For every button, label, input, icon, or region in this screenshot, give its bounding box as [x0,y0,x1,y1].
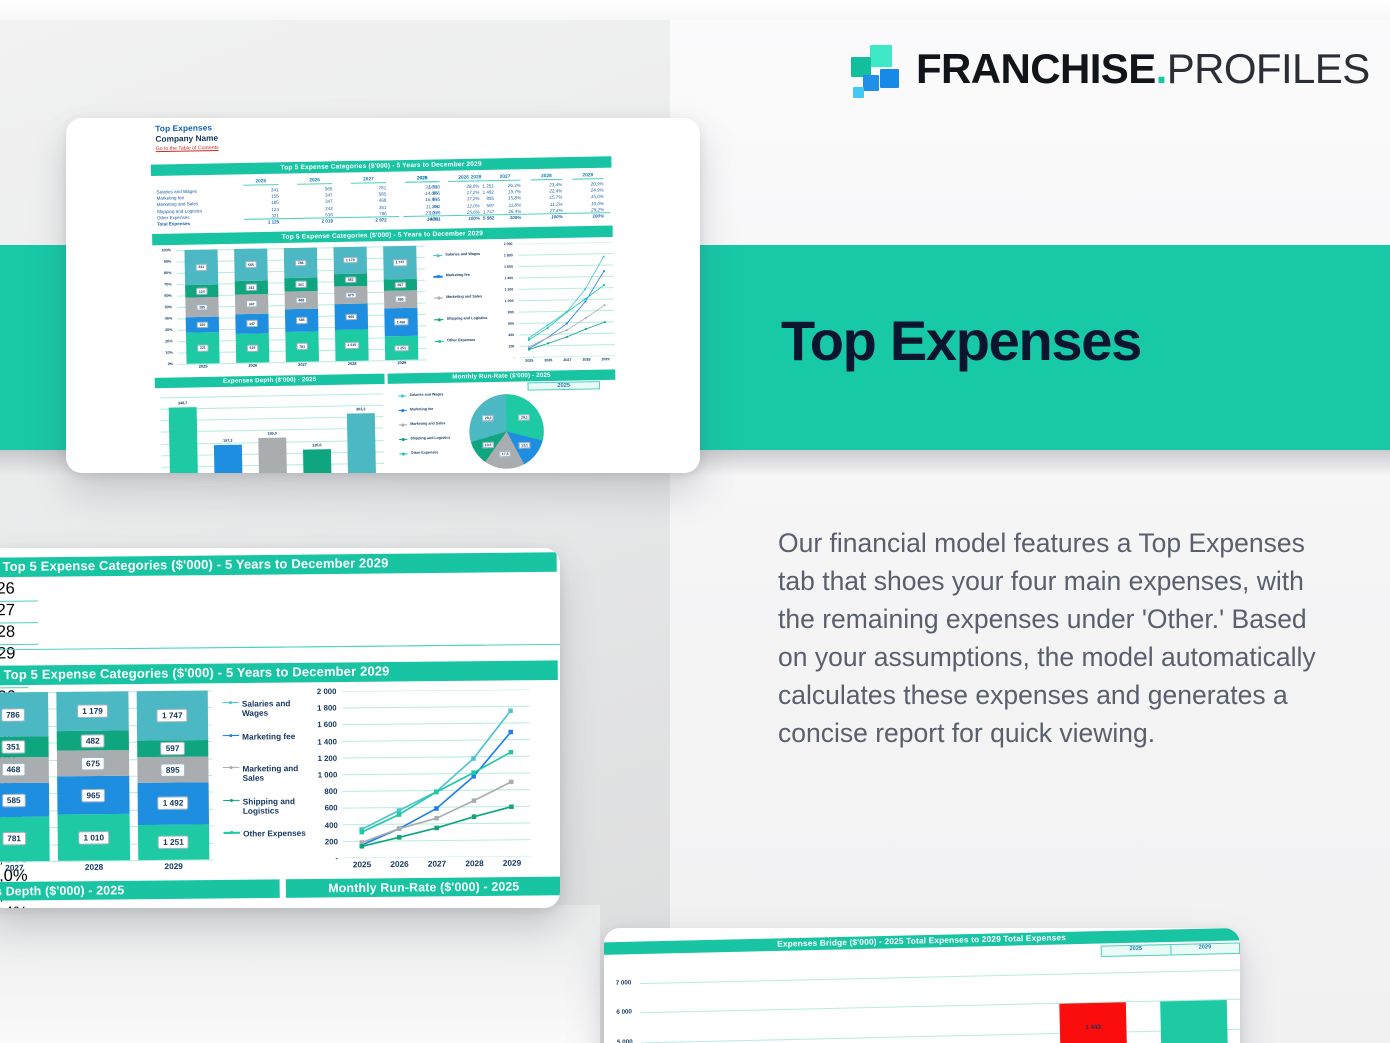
table-cell-percent: 22,4% [531,188,562,194]
pie-legend-label: Shipping and Logistics [410,436,450,441]
table-cell-percent: 10,0% [573,200,604,206]
bar-segment-label: 1 010 [345,342,359,349]
table-cell-percent: 100% [573,213,604,219]
legend-marker [223,732,240,738]
legend-marker [434,317,443,323]
run-rate-y-axis: -2004006008001 0001 2001 4001 6001 8002 … [493,244,518,358]
bar-segment-label: 1 179 [343,257,357,264]
table-cell-value: 341 [243,187,278,193]
bar-segment-label: 468 [1,763,25,777]
pie-legend-label: Marketing fee [410,407,433,412]
bar-segment-label: 1 251 [394,344,408,351]
y-tick-label: 1 800 [317,703,337,712]
pie-slices [469,393,545,469]
bar-segment-label: 895 [161,763,185,777]
bar-segment-s-oth: 516 [236,333,269,363]
bar-segment-label: 155 [197,321,208,328]
bar-segment-s-mks: 185 [186,297,219,317]
y-tick-label: 1 400 [317,737,337,746]
legend-item: Marketing fee [433,273,470,280]
bar-segment-s-oth: 1 251 [385,336,418,360]
legend-marker [223,830,240,836]
table-cell-percent: 100% [490,215,521,221]
run-rate-year-selector[interactable]: 2025 [527,381,600,391]
bar-segment-s-mkf: 597 [384,279,416,291]
table-cell-value: 347 [297,199,332,205]
table-cell-percent: 31,0% [407,184,438,190]
bar-segment-s-shp: 585 [0,783,50,817]
depth-bar-value: 348,7 [178,401,187,405]
x-tick-label: 2029 [377,360,427,365]
bar-segment-label: 341 [196,264,207,271]
bar-segment-label: 965 [346,313,357,320]
waterfall-bar [1160,1000,1228,1043]
y-tick-label: 600 [508,322,514,326]
table-cell-percent: 11,2% [531,201,562,207]
pie-legend-marker [398,393,406,398]
bl-line-y-axis: -2004006008001 0001 2001 4001 6001 8002 … [305,691,342,858]
legend-item: Other Expenses [435,338,476,345]
x-tick-label: 2025 [520,358,539,362]
bar-segment-label: 347 [246,320,257,327]
bl-rule-right [242,644,560,648]
bl-year-header: 2028 [0,623,38,645]
table-cell-value: 781 [351,185,386,191]
stacked-bar-column: 516347347243565 [235,248,269,362]
x-tick-label: 2029 [134,861,214,871]
bar-segment-s-mks: 347 [235,294,268,314]
legend-label: Other Expenses [243,829,306,839]
stacked-bar-legend: Salaries and WagesMarketing feeMarketing… [433,246,499,359]
br-y-tick-label: 7 000 [616,980,632,987]
bar-segment-label: 565 [245,261,256,268]
background-top-strip [0,0,1390,20]
y-tick-label: 1 400 [504,276,513,280]
y-tick-label: 1 600 [504,265,513,269]
legend-item: Marketing fee [223,731,296,741]
bar-segment-s-mkf: 351 [0,737,49,758]
expenses-depth-title-bar: Expenses Depth ($'000) - 2025 [155,374,385,389]
y-tick-label: 200 [508,344,514,348]
table-cell-percent: 12,0% [449,203,480,209]
table-percent-header: 2027 [489,173,520,180]
table-of-contents-link[interactable]: Go to the Table of Contents [156,145,219,152]
pie-slice-label: 29,1 [519,414,530,421]
waterfall-bar: 1 443 [1059,1002,1126,1043]
legend-marker [223,797,240,803]
bar-segment-label: 1 492 [158,797,189,811]
pie-legend-item: Other Expenses [399,450,438,456]
legend-label: Salaries and Wages [445,251,480,256]
screenshot-card-expenses-bridge: Expenses Bridge ($'000) - 2025 Total Exp… [604,928,1240,1043]
legend-item: Marketing and Sales [223,764,308,784]
bar-segment-label: 1 251 [158,835,189,849]
stacked-bar-column: 1 0109656754821 179 [334,247,368,361]
table-cell-percent: 23,4% [531,182,562,188]
legend-label: Marketing and Sales [446,294,482,299]
bar-segment-s-mks: 675 [57,750,129,777]
y-tick-label: 1 000 [505,299,514,303]
legend-item: Shipping and Logistics [223,796,308,816]
table-cell-percent: 24,9% [573,188,604,194]
x-tick-label: 2027 [0,863,54,873]
legend-marker [223,765,240,771]
bar-segment-s-mkf: 124 [185,285,218,298]
bar-segment-label: 786 [1,708,25,722]
legend-label: Marketing fee [446,273,470,278]
x-tick-label: 2027 [278,362,328,367]
bar-segment-label: 1 492 [394,318,408,325]
stacked-bar-chart-top: 3211551851243415163473472435657815854683… [176,246,426,364]
depth-bar: 157,3 [213,445,242,473]
y-tick-label: 70% [164,282,172,286]
bar-segment-s-shp: 585 [285,309,318,332]
legend-label: Other Expenses [447,338,475,343]
table-year-header: 2027 [351,176,386,183]
bar-segment-s-shp: 347 [236,314,269,334]
x-tick-label: 2028 [456,859,494,869]
table-cell-percent: 28,0% [448,183,479,189]
bl-stacked-bar-x-axis: 202720282029 [0,861,214,873]
y-tick-label: 30% [165,328,173,332]
franchise-profiles-logo-squares-icon [850,43,902,95]
bar-segment-label: 321 [197,345,208,352]
x-tick-label: 2028 [577,357,596,361]
bar-segment-label: 124 [196,288,207,295]
y-tick-label: 0% [168,362,173,366]
hero-description: Our financial model features a Top Expen… [778,524,1338,752]
y-tick-label: 400 [325,820,338,829]
bl-footer-left-bar: ses Depth ($'000) - 2025 [0,879,280,900]
depth-bar: 126,0 [303,450,332,473]
gridline [160,393,383,398]
legend-item: Marketing and Sales [434,294,483,301]
bar-segment-s-mkf: 597 [137,740,209,758]
bar-segment-label: 468 [296,297,307,304]
table-cell-percent: 17,2% [448,196,479,202]
bar-segment-s-shp: 1 492 [137,782,209,825]
table-cell-percent: 15,7% [531,195,562,201]
br-year-selector[interactable]: 2025 2029 [1101,942,1240,957]
bar-segment-s-sal: 565 [235,249,268,281]
table-cell-value: 468 [351,198,386,204]
y-tick-label: 80% [164,271,172,275]
pie-legend-marker [399,436,407,441]
table-cell-percent: 16,8% [407,197,438,203]
run-rate-line-chart-top [518,242,615,358]
y-tick-label: 800 [324,787,337,796]
legend-marker [222,699,239,705]
bl-expense-table: 2026202720282029202520262027202820295657… [0,575,560,661]
pie-legend-marker [399,422,407,427]
y-tick-label: 200 [325,837,338,846]
table-row-label: Shipping and Logistics [157,208,203,214]
table-row-label: Other Expenses [157,214,190,220]
expense-table: 2025202620272028202920252026202720282029… [156,172,612,230]
x-tick-label: 2026 [539,358,558,362]
table-cell-percent: 14,0% [407,191,438,197]
y-tick-label: 90% [164,260,172,264]
bl-year-header: 2027 [0,602,38,624]
y-tick-label: 20% [165,339,173,343]
bar-segment-label: 781 [296,343,307,350]
table-cell-percent: 26,3% [490,183,521,189]
bar-segment-label: 1 010 [78,831,109,845]
pie-slice-label: 29,2 [482,415,493,422]
bar-segment-s-mks: 895 [137,757,209,783]
y-tick-label: 10% [165,351,173,355]
bar-segment-s-mks: 675 [335,286,368,304]
table-row-label: Marketing and Sales [157,201,199,207]
pie-legend-label: Salaries and Wages [410,392,444,397]
table-row-label: Marketing fee [157,195,185,201]
expenses-depth-bar-chart: 348,7157,3189,0126,0303,3 [160,393,384,473]
bar-segment-s-oth: 781 [286,331,319,362]
y-tick-label: 2 000 [317,687,337,696]
table-cell-value: 347 [297,193,332,199]
legend-label: Shipping and Logistics [243,796,308,816]
bl-footer-right-bar: Monthly Run-Rate ($'000) - 2025 [286,877,560,898]
x-tick-label: 2025 [343,860,381,870]
run-rate-year-option[interactable]: 2025 [529,382,599,389]
brand-dot: . [1156,45,1167,92]
bar-segment-label: 675 [345,292,356,299]
stacked-bar-y-axis: 100%90%80%70%60%50%40%30%20%10%0% [153,250,176,364]
pie-slice-label: 10,5 [482,441,493,448]
bar-segment-label: 781 [2,832,26,846]
bl-line-x-axis: 20252026202720282029 [343,858,531,869]
table-cell-value: 1 125 [244,219,279,225]
brand-part-one: FRANCHISE [916,45,1156,92]
y-tick-label: 1 000 [318,770,338,779]
bar-segment-s-mks: 468 [0,756,49,783]
table-cell-value: 185 [244,200,279,206]
table-percent-header: 2026 [448,174,479,181]
bar-segment-label: 347 [246,301,257,308]
legend-item: Shipping and Logistics [434,316,487,323]
depth-bar: 348,7 [168,407,198,473]
bar-segment-s-sal: 1 179 [57,691,129,731]
x-tick-label: 2026 [228,363,278,368]
y-tick-label: 1 800 [504,253,513,257]
y-tick-label: 50% [165,305,173,309]
depth-bar-value: 157,3 [223,439,232,443]
table-cell-percent: 11,8% [490,202,521,208]
y-tick-label: - [513,356,514,360]
table-row-label: Total Expenses [157,221,190,227]
pie-legend-label: Marketing and Sales [410,421,445,426]
bar-segment-label: 585 [2,793,26,807]
gridline [640,969,1240,984]
bl-stacked-bar-legend: Salaries and WagesMarketing feeMarketing… [222,692,308,860]
y-tick-label: 60% [164,294,172,298]
bar-segment-s-mks: 468 [285,291,318,310]
br-year-option-2025[interactable]: 2025 [1102,945,1171,956]
bar-segment-label: 675 [81,756,105,770]
bar-segment-s-sal: 1 747 [384,246,417,280]
table-cell-percent: 15,0% [573,194,604,200]
stacked-bar-column: 1 2511 4928955971 747 [136,691,209,861]
table-cell-value: 124 [244,206,279,212]
bl-run-rate-line-chart [342,689,531,858]
legend-marker [433,252,442,258]
bar-segment-s-oth: 321 [186,332,219,363]
gridline [641,1029,1240,1043]
table-cell-percent: 11,2% [407,203,438,209]
y-tick-label: 40% [165,316,173,320]
screenshot-card-top-expenses: Top Expenses Company Name Go to the Tabl… [66,118,700,473]
legend-item: Salaries and Wages [222,699,307,719]
table-year-header: 2026 [297,177,332,184]
table-percent-header: 2029 [572,172,603,179]
sheet-header: Top Expenses Company Name Go to the Tabl… [155,123,218,152]
stacked-bar-column: 1 0109656754821 179 [57,691,130,861]
bar-segment-label: 351 [295,281,306,288]
table-cell-value: 2 972 [352,217,387,223]
pie-legend-label: Other Expenses [411,450,439,455]
depth-bar: 189,0 [258,438,288,473]
depth-bar: 303,3 [346,413,376,473]
bar-segment-label: 482 [345,276,356,283]
gridline [640,999,1240,1014]
bl-stacked-bar-chart: 7815854683517861 0109656754821 1791 2511… [0,690,213,861]
pie-legend-item: Marketing and Sales [399,421,446,427]
y-tick-label: 400 [508,333,514,337]
table-cell-percent: 100% [532,214,563,220]
table-cell-percent: 15,8% [490,196,521,202]
bar-segment-label: 786 [295,259,306,266]
y-tick-label: 2 000 [504,242,513,246]
y-tick-label: 1 200 [504,287,513,291]
pie-legend-item: Salaries and Wages [398,392,443,398]
page-title: Top Expenses [781,313,1141,369]
brand-logo: FRANCHISE.PROFILES [850,38,1370,100]
company-name: Company Name [155,133,218,143]
bar-segment-label: 965 [81,789,105,803]
pie-legend-marker [399,407,407,412]
x-tick-label: 2029 [596,357,615,361]
background-bottom-gradient [0,905,600,1043]
pie-legend-item: Marketing fee [399,407,434,413]
legend-label: Shipping and Logistics [447,316,488,321]
br-y-tick-label: 6 000 [616,1010,632,1017]
bar-segment-label: 1 747 [393,259,407,266]
bl-pct-cell: 23,4% [0,904,31,908]
screenshot-card-expense-categories: Top 5 Expense Categories ($'000) - 5 Yea… [0,548,560,908]
legend-marker [435,338,444,344]
bar-segment-label: 516 [247,345,258,352]
table-cell-value: 351 [351,204,386,210]
table-cell-percent: 20,9% [572,181,603,187]
bar-segment-s-mkf: 482 [334,273,367,286]
bar-segment-label: 351 [1,740,25,754]
pie-legend-marker [399,451,407,456]
bl-chart-title-bar: Top 5 Expense Categories ($'000) - 5 Yea… [0,660,558,685]
y-tick-label: 1 600 [317,720,337,729]
run-rate-x-axis: 20252026202720282029 [520,357,615,363]
table-row-label: Salaries and Wages [156,189,197,195]
br-y-axis: 4 0005 0006 0007 000 [604,971,638,1043]
legend-item: Salaries and Wages [433,251,480,258]
x-tick-label: 2025 [178,364,228,369]
bar-segment-label: 243 [246,284,257,291]
br-year-option-2029[interactable]: 2029 [1171,944,1239,955]
pie-legend-item: Shipping and Logistics [399,436,450,442]
y-tick-label: - [335,854,338,863]
pie-slice-label: 17,5 [499,451,510,458]
br-y-tick-label: 5 000 [617,1040,633,1043]
stacked-bar-column: 321155185124341 [185,249,219,363]
table-cell-percent: 19,7% [490,189,521,195]
legend-label: Salaries and Wages [242,699,307,719]
stacked-bar-column: 781585468351786 [0,692,50,862]
depth-bar-value: 303,3 [356,407,365,411]
bar-segment-s-mkf: 482 [57,731,129,751]
legend-label: Marketing fee [242,731,295,741]
x-tick-label: 2029 [493,858,531,868]
bar-segment-s-sal: 1 747 [136,691,208,741]
table-cell-value: 2 019 [298,218,333,224]
stacked-bar-column: 1 2511 4928955971 747 [384,246,418,360]
table-cell-value: 585 [351,192,386,198]
table-cell-percent: 100% [407,216,438,222]
bar-segment-label: 1 179 [77,705,108,719]
bar-segment-s-shp: 1 492 [385,307,418,336]
bl-year-header: 2026 [0,580,38,602]
y-tick-label: 1 200 [317,753,337,762]
bar-segment-s-oth: 781 [0,816,50,861]
legend-item: Other Expenses [223,829,305,839]
bar-segment-s-shp: 965 [57,776,129,814]
bar-segment-label: 597 [160,742,184,756]
bar-segment-s-mks: 895 [384,290,417,308]
brand-part-two: PROFILES [1167,45,1370,92]
y-tick-label: 800 [508,310,514,314]
y-tick-label: 600 [325,804,338,813]
background-right-panel [670,0,1390,1043]
bar-segment-s-oth: 1 010 [335,329,368,361]
table-cell-value: 243 [298,205,333,211]
depth-bar-value: 189,0 [267,432,276,436]
pie-legend: Salaries and WagesMarketing feeMarketing… [398,392,461,468]
bar-segment-label: 482 [81,734,105,748]
bar-segment-s-oth: 1 010 [58,814,130,861]
legend-marker [433,274,442,280]
x-tick-label: 2027 [558,358,577,362]
bar-segment-s-oth: 1 251 [137,824,209,860]
table-cell-percent: 17,2% [448,190,479,196]
bar-segment-s-shp: 155 [186,317,219,334]
table-cell-value: 155 [243,194,278,200]
bar-segment-s-sal: 786 [0,692,49,737]
bar-segment-label: 185 [196,304,207,311]
bar-segment-s-mkf: 243 [235,280,268,294]
bar-segment-s-sal: 341 [185,249,218,285]
sheet-title: Top Expenses [155,123,218,133]
bar-segment-s-mkf: 351 [285,278,318,292]
x-tick-label: 2026 [381,859,419,869]
stacked-bar-column: 781585468351786 [284,248,318,362]
brand-wordmark: FRANCHISE.PROFILES [916,48,1370,90]
table-cell-value: 565 [297,186,332,192]
legend-label: Marketing and Sales [242,764,307,784]
table-percent-header: 2028 [531,173,562,180]
bar-segment-label: 895 [395,296,406,303]
y-tick-label: 100% [161,248,171,252]
legend-marker [434,295,443,301]
bar-segment-label: 597 [395,281,406,288]
bar-segment-s-shp: 965 [335,304,368,330]
